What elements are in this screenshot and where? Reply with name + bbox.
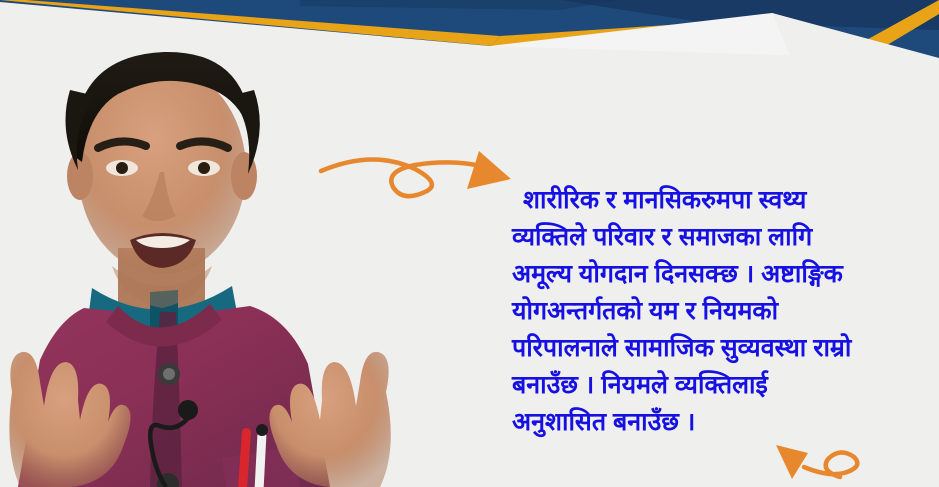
- caption-line-4: योगअन्तर्गतको यम र नियमको: [512, 293, 939, 330]
- lapel-microphone: [178, 400, 198, 420]
- screenshot-canvas: शारीरिक र मानसिकरुमपा स्वथ्य व्यक्तिले प…: [0, 0, 939, 487]
- caption-text-block: शारीरिक र मानसिकरुमपा स्वथ्य व्यक्तिले प…: [512, 182, 939, 441]
- caption-line-6: बनाउँछ । नियमले व्यक्तिलाई: [512, 367, 939, 404]
- caption-line-5: परिपालनाले सामाजिक सुव्यवस्था राम्रो: [512, 330, 939, 367]
- white-pen-cap: [256, 424, 268, 436]
- speaker-photo: [0, 20, 400, 487]
- caption-line-1: शारीरिक र मानसिकरुमपा स्वथ्य: [512, 182, 939, 219]
- curly-arrow-right-icon: [315, 143, 530, 213]
- caption-line-3: अमूल्य योगदान दिनसक्छ । अष्टाङ्गिक: [512, 256, 939, 293]
- caption-line-7: अनुशासित बनाउँछ ।: [512, 404, 939, 441]
- curly-arrow-upleft-icon: [768, 443, 888, 487]
- caption-line-2: व्यक्तिले परिवार र समाजका लागि: [512, 219, 939, 256]
